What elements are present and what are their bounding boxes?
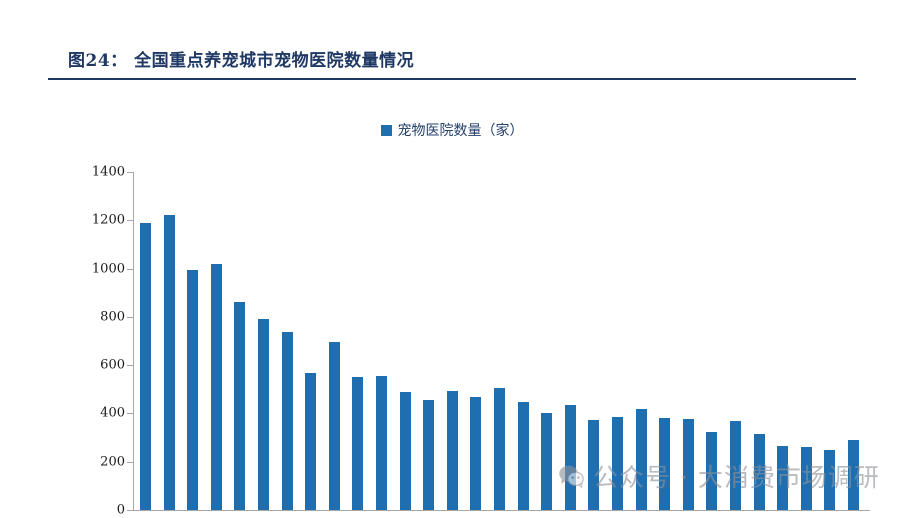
bar[interactable] — [848, 440, 859, 510]
bar[interactable] — [494, 388, 505, 510]
bar[interactable] — [588, 420, 599, 510]
bar[interactable] — [376, 376, 387, 510]
bar[interactable] — [683, 419, 694, 510]
bar[interactable] — [612, 417, 623, 510]
bar[interactable] — [140, 223, 151, 510]
bar[interactable] — [258, 319, 269, 510]
bar[interactable] — [565, 405, 576, 510]
bar-chart: 1400120010008006004002000 — [0, 0, 904, 518]
bar[interactable] — [352, 377, 363, 510]
bar[interactable] — [824, 450, 835, 510]
bar[interactable] — [730, 421, 741, 510]
bar[interactable] — [636, 409, 647, 510]
bar[interactable] — [470, 397, 481, 510]
bar[interactable] — [211, 264, 222, 510]
bar[interactable] — [518, 402, 529, 510]
bar[interactable] — [801, 447, 812, 510]
bar[interactable] — [777, 446, 788, 510]
bar[interactable] — [282, 332, 293, 510]
bar[interactable] — [659, 418, 670, 510]
bar[interactable] — [423, 400, 434, 510]
bar[interactable] — [541, 413, 552, 510]
bar[interactable] — [164, 215, 175, 510]
bar[interactable] — [447, 391, 458, 510]
bar[interactable] — [234, 302, 245, 510]
bar[interactable] — [706, 432, 717, 510]
bar[interactable] — [187, 270, 198, 510]
bar-series-pet-hospital-count — [0, 0, 904, 518]
bar[interactable] — [329, 342, 340, 510]
bar[interactable] — [400, 392, 411, 510]
bar[interactable] — [305, 373, 316, 510]
bar[interactable] — [754, 434, 765, 510]
